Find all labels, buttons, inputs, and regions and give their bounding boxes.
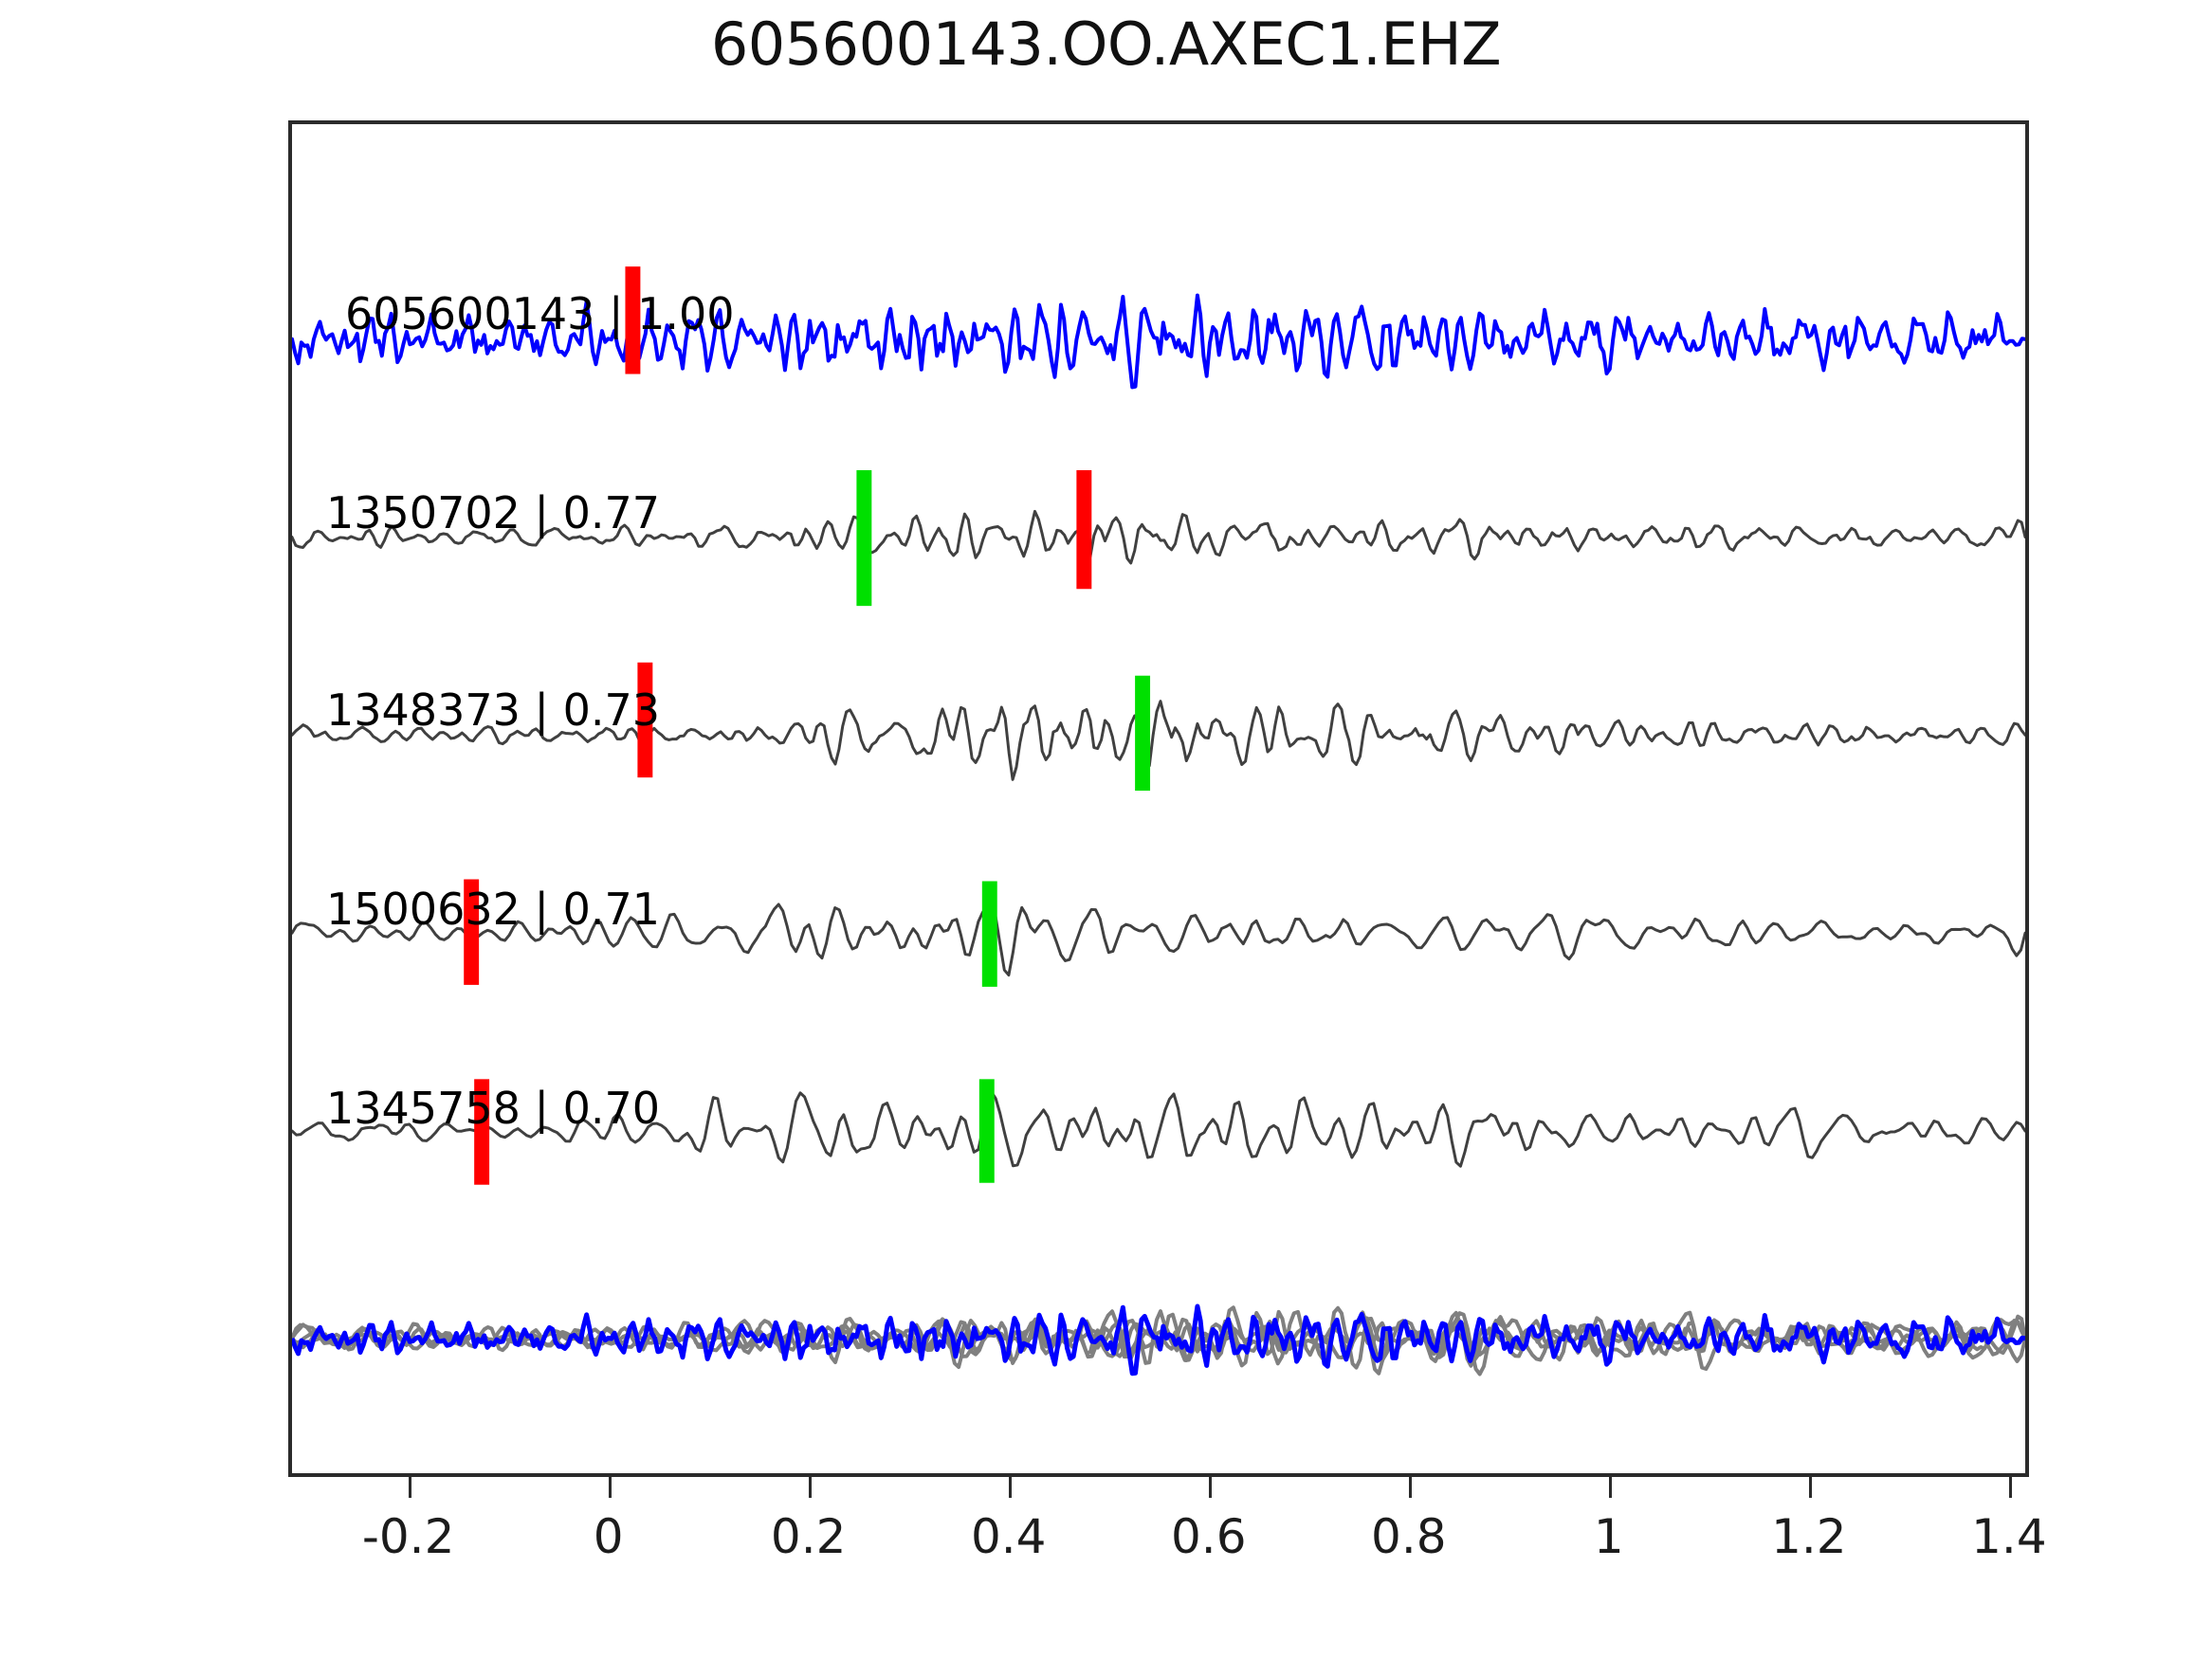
x-tick-label: 1.4 [1971, 1509, 2047, 1564]
x-axis: -0.200.20.40.60.811.21.4 [288, 1477, 2029, 1591]
x-tick-label: 1 [1594, 1509, 1624, 1564]
x-tick-mark [2009, 1477, 2012, 1498]
x-tick-label: 0.4 [971, 1509, 1047, 1564]
x-tick-mark [1209, 1477, 1212, 1498]
trace-label-1345758: 1345758 | 0.70 [326, 1083, 660, 1134]
trace-label-1500632: 1500632 | 0.71 [326, 884, 660, 935]
pick-marker-s-1350702 [856, 470, 871, 606]
x-tick-mark [809, 1477, 812, 1498]
x-tick-label: 0.2 [771, 1509, 847, 1564]
figure-title: 605600143.OO.AXEC1.EHZ [0, 9, 2212, 79]
trace-label-1350702: 1350702 | 0.77 [326, 487, 660, 538]
x-tick-label: -0.2 [362, 1509, 455, 1564]
pick-marker-s-1348373 [1135, 676, 1150, 791]
x-tick-mark [1409, 1477, 1412, 1498]
seismogram-figure: 605600143.OO.AXEC1.EHZ 605600143 | 1.001… [0, 0, 2212, 1659]
pick-marker-p-1350702 [1076, 470, 1091, 589]
pick-marker-s-1345758 [979, 1079, 995, 1182]
x-tick-mark [609, 1477, 612, 1498]
x-tick-label: 0 [594, 1509, 624, 1564]
pick-marker-s-1500632 [982, 882, 997, 987]
x-tick-mark [1809, 1477, 1812, 1498]
x-tick-mark [1609, 1477, 1612, 1498]
trace-label-605600143: 605600143 | 1.00 [345, 288, 735, 339]
x-tick-mark [409, 1477, 411, 1498]
trace-label-1348373: 1348373 | 0.73 [326, 684, 660, 736]
plot-area: 605600143 | 1.001350702 | 0.771348373 | … [288, 120, 2029, 1477]
x-tick-label: 0.8 [1371, 1509, 1447, 1564]
x-tick-mark [1009, 1477, 1012, 1498]
x-tick-label: 1.2 [1771, 1509, 1847, 1564]
x-tick-label: 0.6 [1171, 1509, 1247, 1564]
